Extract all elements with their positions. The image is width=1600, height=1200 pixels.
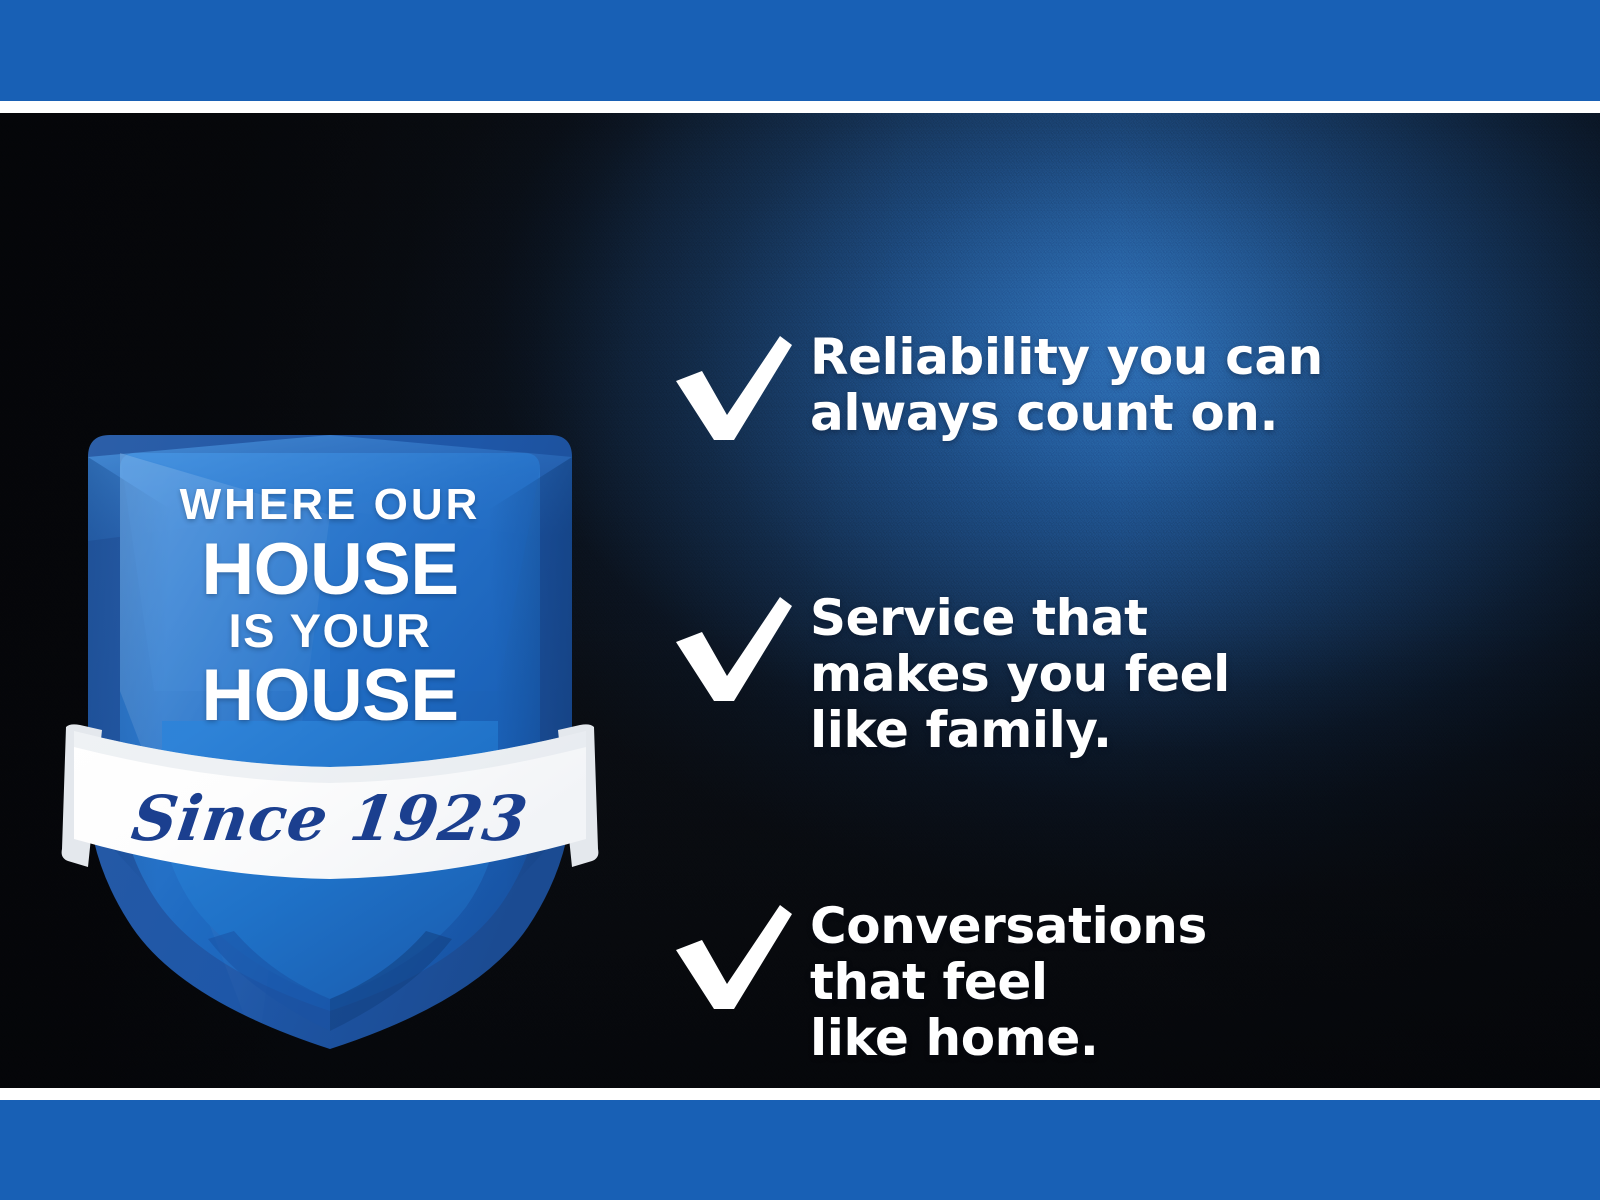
value-prop-text-3: Conversations that feel like home. [810,896,1207,1066]
brand-badge: WHERE OUR HOUSE IS YOUR HOUSE Since 1923 [58,391,602,1051]
value-prop-text-2: Service that makes you feel like family. [810,588,1230,758]
value-prop-text-1: Reliability you can always count on. [810,327,1323,441]
checkmark-icon [672,896,810,1014]
checkmark-icon [672,588,810,706]
checkmark-icon [672,327,810,445]
value-prop-item-3: Conversations that feel like home. [672,896,1207,1066]
bottom-white-divider [0,1088,1600,1100]
value-prop-list: Reliability you can always count on. Ser… [672,226,1492,1088]
bottom-brand-bar [0,1100,1600,1200]
value-prop-item-1: Reliability you can always count on. [672,327,1323,445]
promo-graphic: WHERE OUR HOUSE IS YOUR HOUSE Since 1923… [0,0,1600,1200]
top-white-divider [0,101,1600,113]
value-prop-item-2: Service that makes you feel like family. [672,588,1230,758]
top-brand-bar [0,0,1600,101]
main-stage: WHERE OUR HOUSE IS YOUR HOUSE Since 1923… [0,113,1600,1088]
